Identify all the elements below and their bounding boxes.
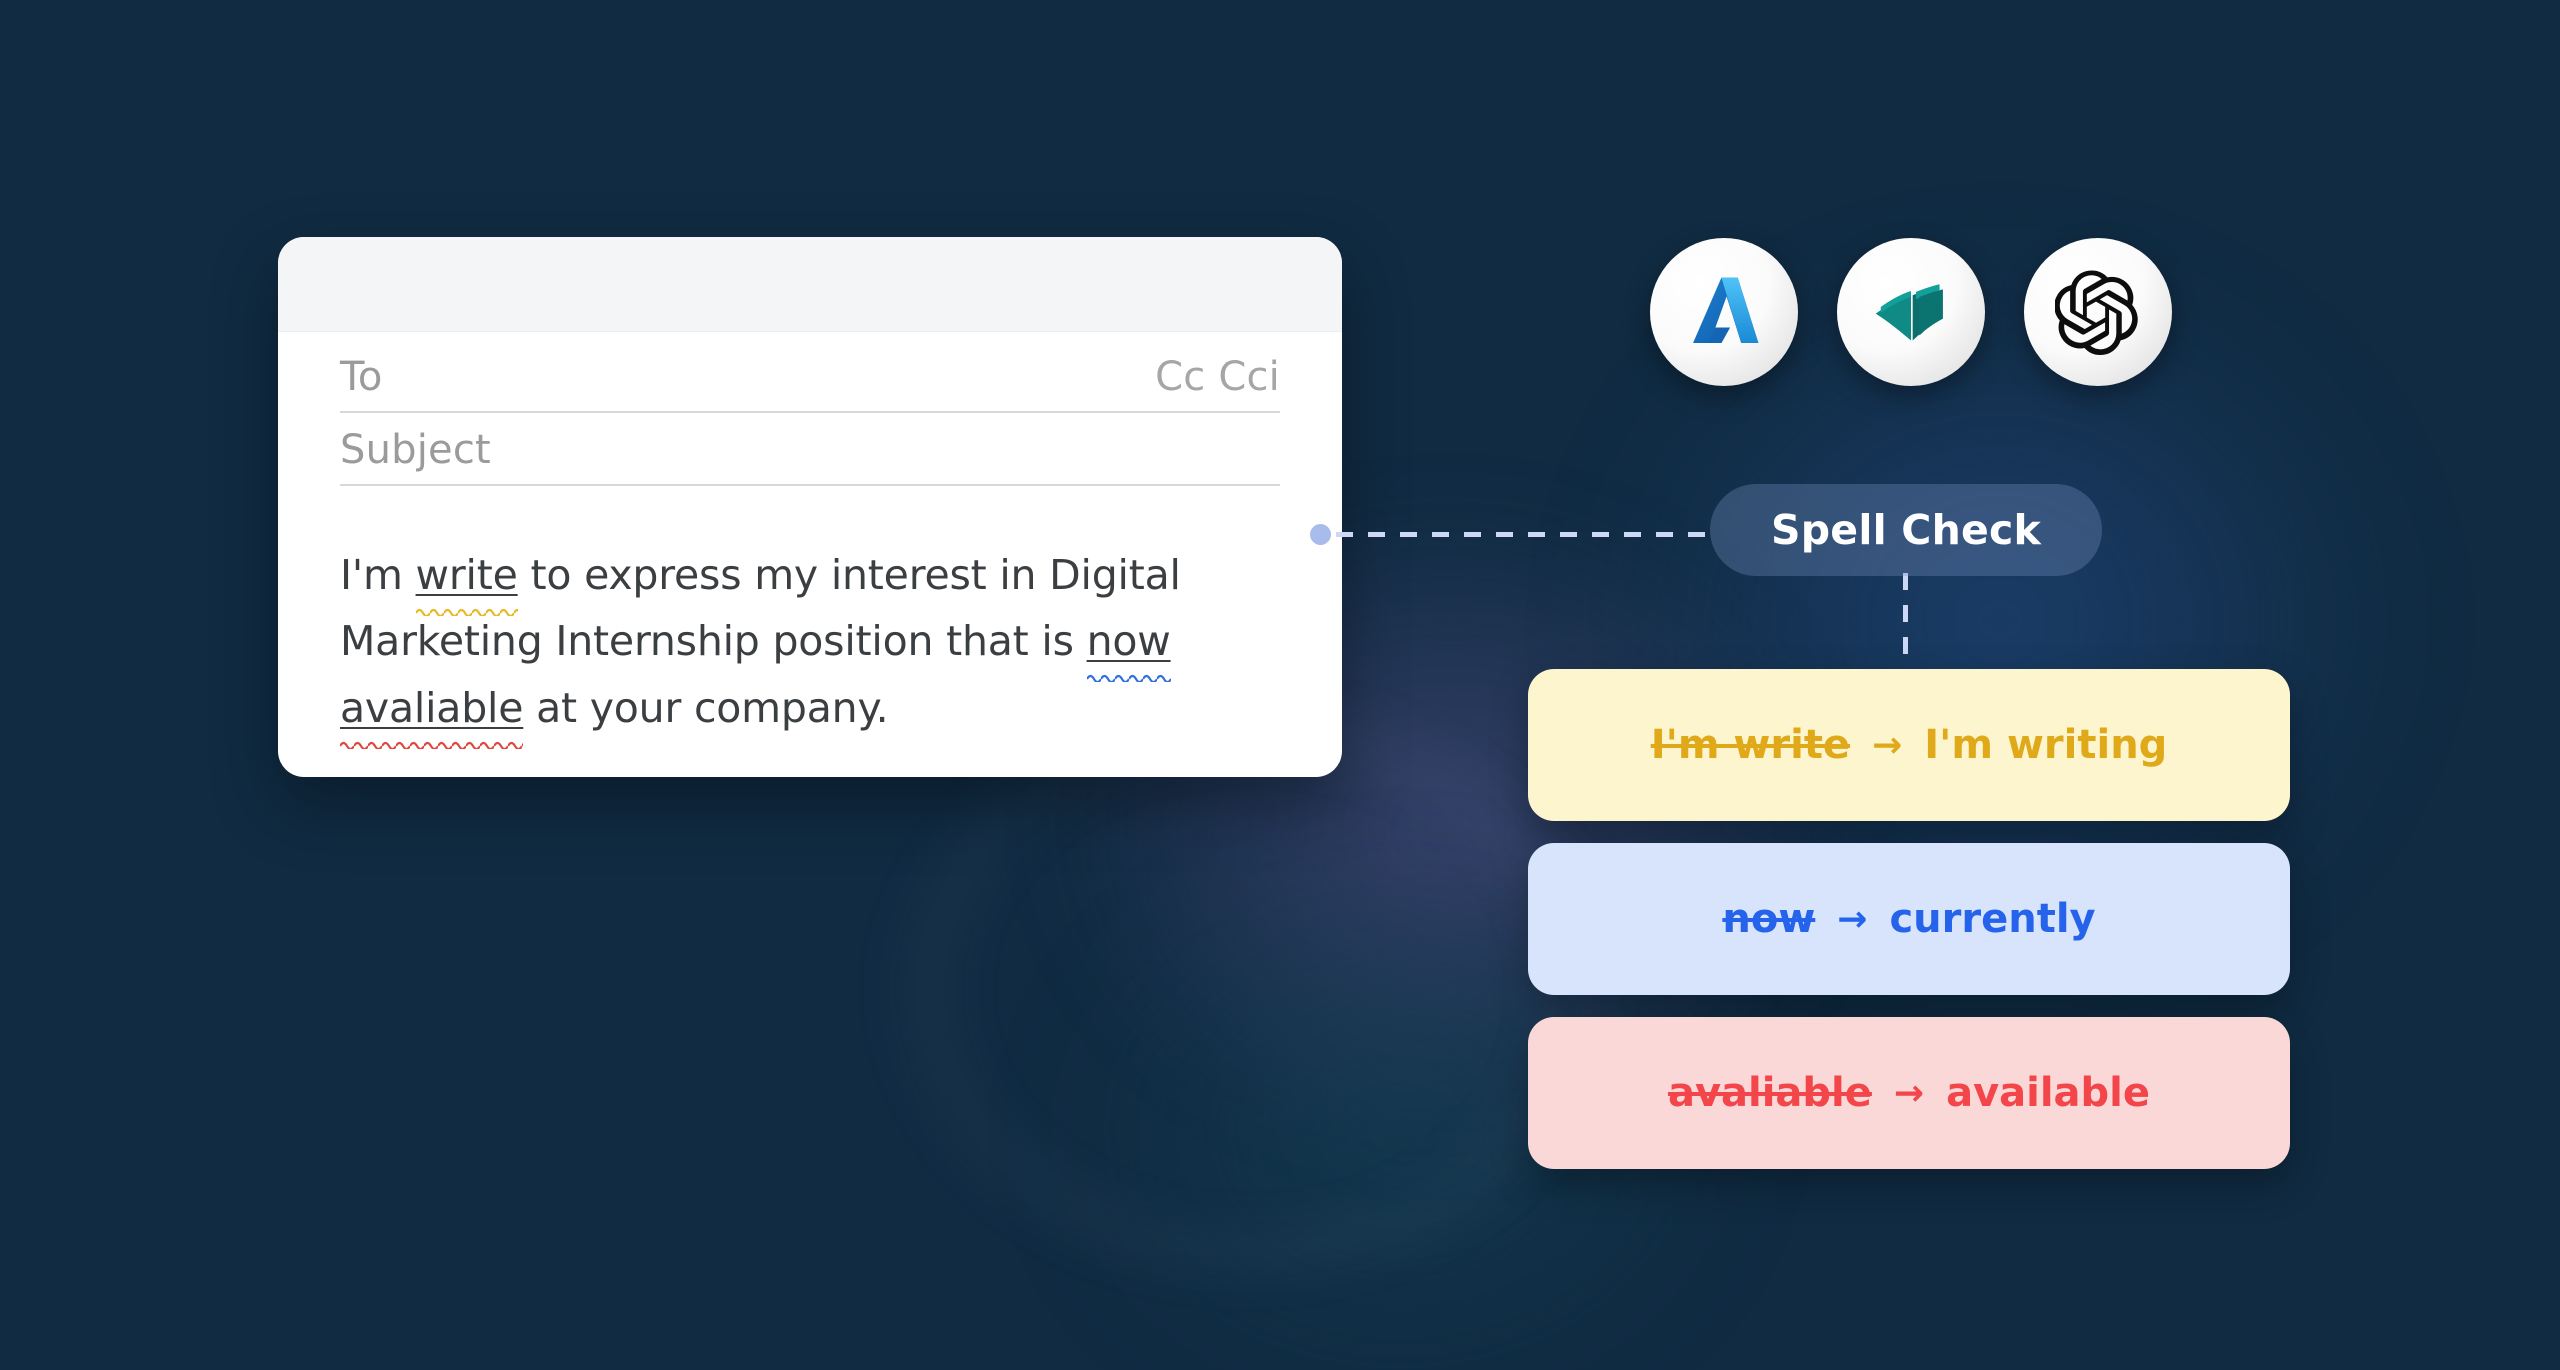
spell-check-label: Spell Check (1771, 506, 2041, 554)
email-header-fields: To Cc Cci Subject (278, 332, 1342, 486)
recipient-row[interactable]: To Cc Cci (340, 354, 1280, 413)
suggestion-correction[interactable]: currently (1889, 896, 2095, 942)
error-word-grammar[interactable]: write (416, 551, 518, 599)
provider-languagetool[interactable] (1837, 238, 1985, 386)
openai-logo-icon (2055, 269, 2141, 355)
suggestion-card-grammar[interactable]: I'm write → I'm writing (1528, 669, 2290, 821)
suggestion-original: avaliable (1668, 1070, 1872, 1116)
suggestion-original: I'm write (1651, 722, 1850, 768)
connector-dashed-horizontal (1336, 532, 1706, 537)
arrow-right-icon: → (1894, 1073, 1924, 1114)
error-word-spelling[interactable]: avaliable (340, 684, 523, 732)
illustration-canvas: To Cc Cci Subject I'm write to express m… (0, 0, 2560, 1370)
email-body-text[interactable]: I'm write to express my interest in Digi… (278, 500, 1342, 741)
connector-anchor-dot (1310, 524, 1331, 545)
body-segment-plain: I'm (340, 551, 416, 599)
subject-field[interactable]: Subject (340, 427, 491, 473)
arrow-right-icon: → (1872, 725, 1902, 766)
provider-openai[interactable] (2024, 238, 2172, 386)
email-toolbar (278, 237, 1342, 332)
connector-dashed-vertical (1903, 573, 1908, 677)
body-segment-plain: at your company. (523, 684, 888, 732)
suggestion-original: now (1722, 896, 1815, 942)
error-word-style[interactable]: now (1087, 617, 1171, 665)
suggestion-card-style[interactable]: now → currently (1528, 843, 2290, 995)
arrow-right-icon: → (1837, 899, 1867, 940)
suggestion-correction[interactable]: I'm writing (1924, 722, 2167, 768)
cc-cci-button[interactable]: Cc Cci (1155, 354, 1280, 400)
email-composer-card: To Cc Cci Subject I'm write to express m… (278, 237, 1342, 777)
azure-logo-icon (1681, 269, 1767, 355)
to-field[interactable]: To (340, 354, 383, 400)
languagetool-book-icon (1869, 270, 1953, 354)
spell-check-badge[interactable]: Spell Check (1710, 484, 2102, 576)
provider-azure[interactable] (1650, 238, 1798, 386)
suggestion-correction[interactable]: available (1946, 1070, 2150, 1116)
provider-logo-row (1650, 238, 2172, 386)
subject-row[interactable]: Subject (340, 427, 1280, 486)
suggestion-card-spelling[interactable]: avaliable → available (1528, 1017, 2290, 1169)
